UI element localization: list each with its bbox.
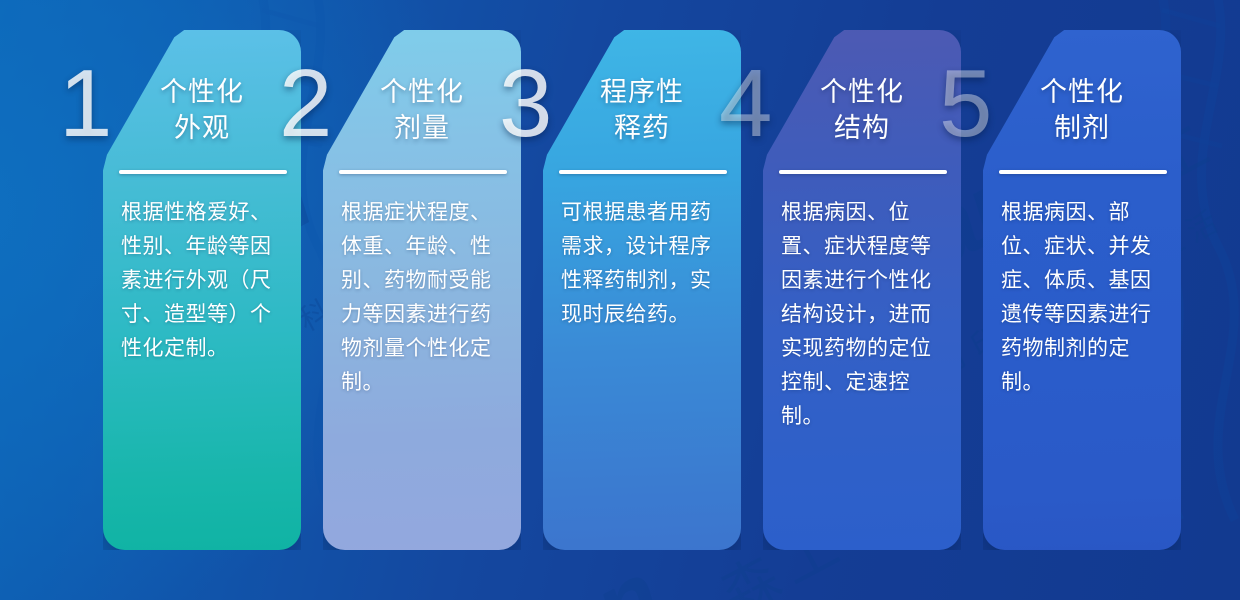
card-5[interactable]: 5 个性化 制剂 根据病因、部位、症状、并发症、体质、基因遗传等因素进行药物制剂…: [983, 30, 1181, 550]
card-3-title-line1: 程序性: [600, 77, 684, 107]
card-4-content: 个性化 结构 根据病因、位置、症状程度等因素进行个性化结构设计，进而实现药物的定…: [763, 30, 961, 550]
card-5-title: 个性化 制剂: [999, 74, 1165, 152]
card-3-body: 可根据患者用药需求，设计程序性释药制剂，实现时辰给药。: [559, 196, 725, 332]
card-4-body: 根据病因、位置、症状程度等因素进行个性化结构设计，进而实现药物的定位控制、定速控…: [779, 196, 945, 434]
card-3-title: 程序性 释药: [559, 74, 725, 152]
card-5-content: 个性化 制剂 根据病因、部位、症状、并发症、体质、基因遗传等因素进行药物制剂的定…: [983, 30, 1181, 550]
card-1-title: 个性化 外观: [119, 74, 285, 152]
card-3-title-line2: 释药: [559, 110, 725, 146]
card-2-content: 个性化 剂量 根据症状程度、体重、年龄、性别、药物耐受能力等因素进行药物剂量个性…: [323, 30, 521, 550]
card-4-title-line1: 个性化: [820, 77, 904, 107]
card-3[interactable]: 3 程序性 释药 可根据患者用药需求，设计程序性释药制剂，实现时辰给药。: [543, 30, 741, 550]
card-5-body: 根据病因、部位、症状、并发症、体质、基因遗传等因素进行药物制剂的定制。: [999, 196, 1165, 400]
card-2-title-line2: 剂量: [339, 110, 505, 146]
card-1-divider: [119, 170, 287, 174]
card-1[interactable]: 1 个性化 外观 根据性格爱好、性别、年龄等因素进行外观（尺寸、造型等）个性化定…: [103, 30, 301, 550]
card-1-body: 根据性格爱好、性别、年龄等因素进行外观（尺寸、造型等）个性化定制。: [119, 196, 285, 366]
card-4-title-line2: 结构: [779, 110, 945, 146]
card-list: 1 个性化 外观 根据性格爱好、性别、年龄等因素进行外观（尺寸、造型等）个性化定…: [0, 0, 1240, 600]
card-2-title: 个性化 剂量: [339, 74, 505, 152]
card-2-body: 根据症状程度、体重、年龄、性别、药物耐受能力等因素进行药物剂量个性化定制。: [339, 196, 505, 400]
card-2[interactable]: 2 个性化 剂量 根据症状程度、体重、年龄、性别、药物耐受能力等因素进行药物剂量…: [323, 30, 521, 550]
card-3-content: 程序性 释药 可根据患者用药需求，设计程序性释药制剂，实现时辰给药。: [543, 30, 741, 550]
card-1-title-line2: 外观: [119, 110, 285, 146]
card-2-title-line1: 个性化: [380, 77, 464, 107]
card-4[interactable]: 4 个性化 结构 根据病因、位置、症状程度等因素进行个性化结构设计，进而实现药物…: [763, 30, 961, 550]
card-3-divider: [559, 170, 727, 174]
infographic-canvas: sean 森工 3D打印 科技改变生活 sean 森工 3D打印 科技改变生活 …: [0, 0, 1240, 600]
card-2-divider: [339, 170, 507, 174]
card-4-divider: [779, 170, 947, 174]
card-5-title-line1: 个性化: [1040, 77, 1124, 107]
card-5-title-line2: 制剂: [999, 110, 1165, 146]
card-1-content: 个性化 外观 根据性格爱好、性别、年龄等因素进行外观（尺寸、造型等）个性化定制。: [103, 30, 301, 550]
card-5-divider: [999, 170, 1167, 174]
card-4-title: 个性化 结构: [779, 74, 945, 152]
card-1-title-line1: 个性化: [160, 77, 244, 107]
